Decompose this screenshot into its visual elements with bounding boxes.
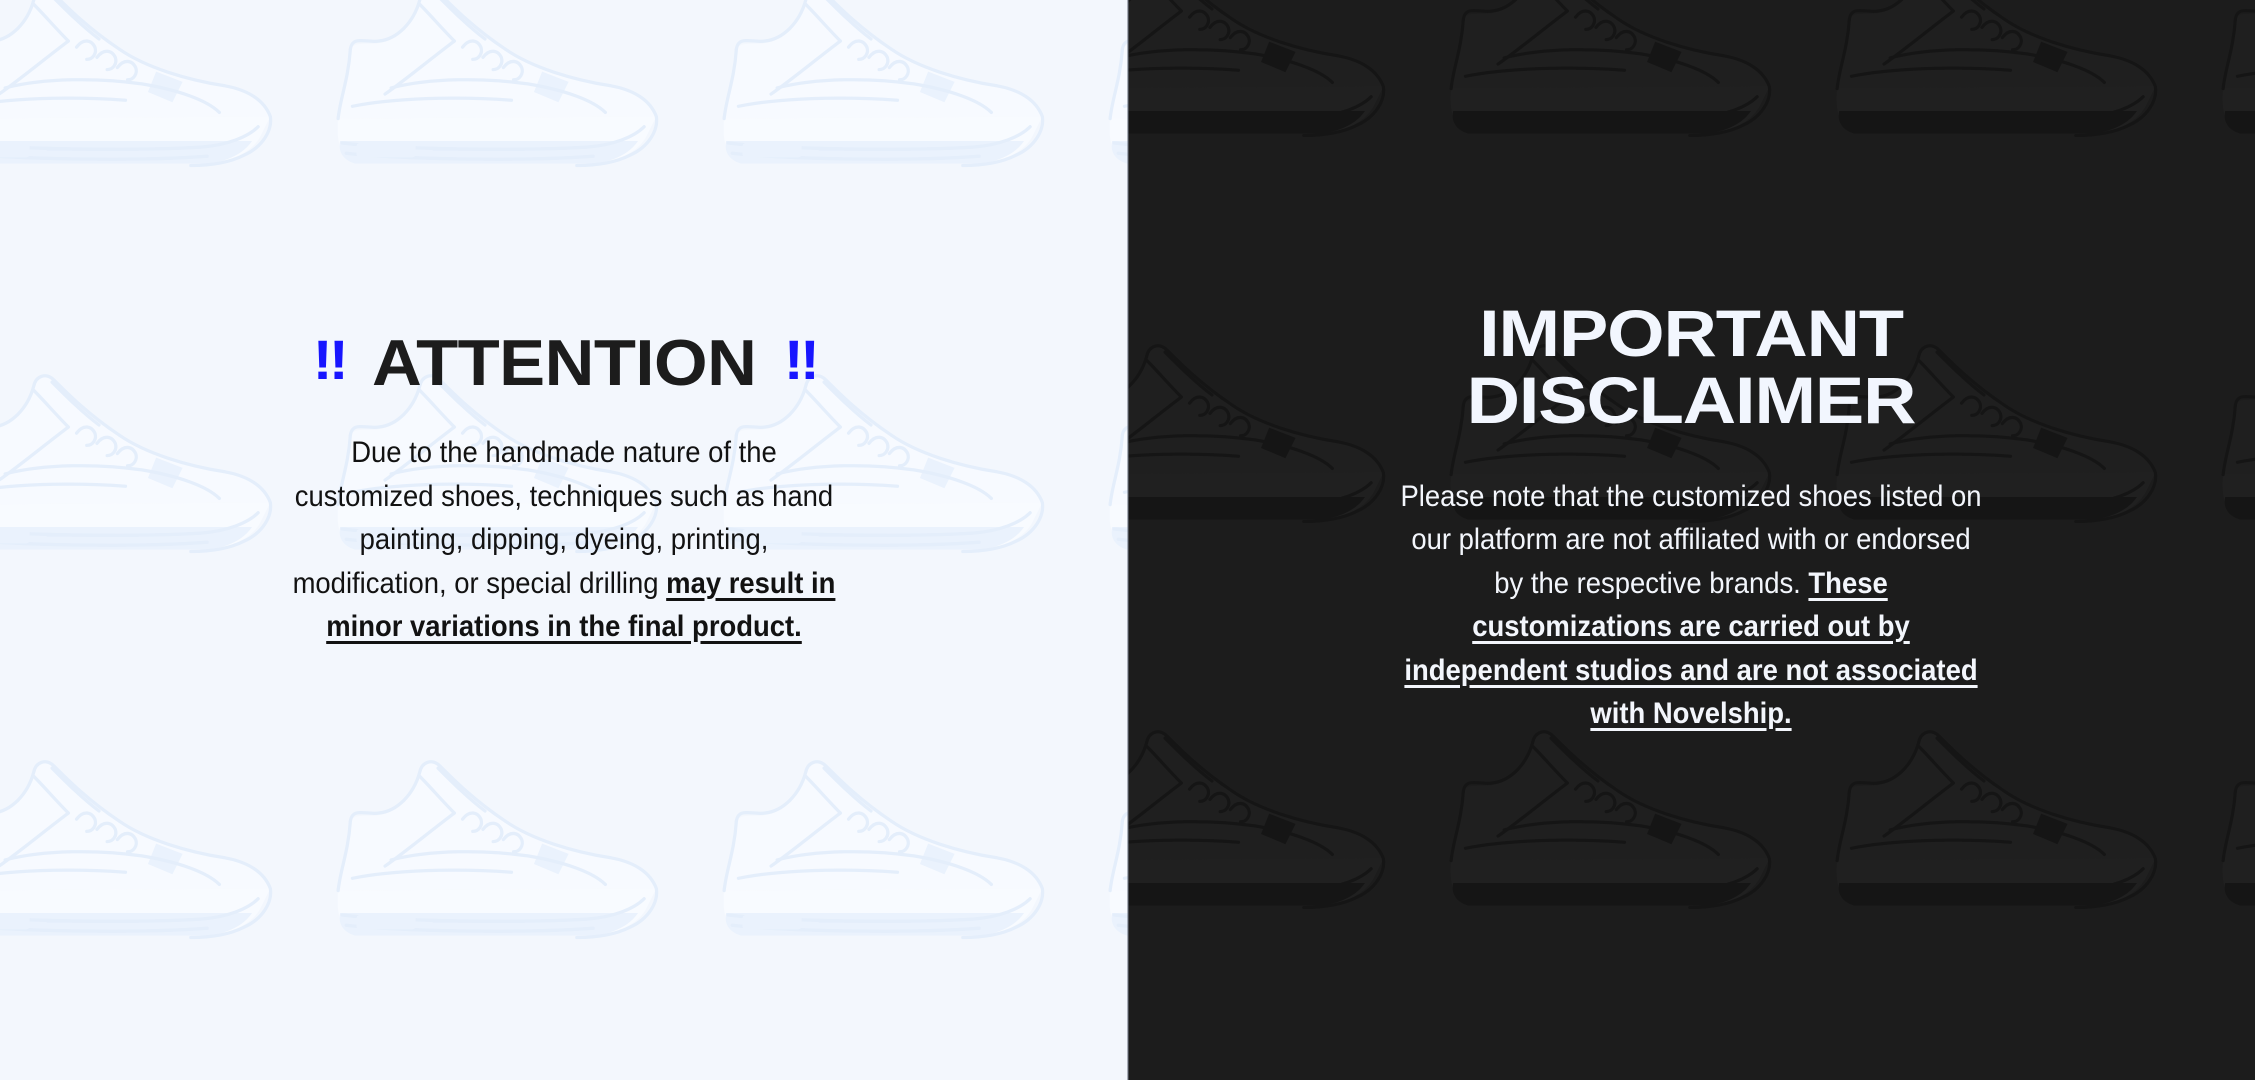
panel-divider (1127, 0, 1129, 1080)
double-exclamation-icon-left: ‼ (312, 332, 344, 388)
attention-panel: ‼ ATTENTION ‼ Due to the handmade nature… (0, 0, 1128, 1080)
disclaimer-body-plain: Please note that the customized shoes li… (1401, 480, 1982, 600)
disclaimer-heading: IMPORTANT DISCLAIMER (1333, 300, 2050, 435)
disclaimer-banner: ‼ ATTENTION ‼ Due to the handmade nature… (0, 0, 2255, 1080)
attention-heading: ‼ ATTENTION ‼ (312, 330, 815, 395)
attention-content: ‼ ATTENTION ‼ Due to the handmade nature… (0, 0, 1128, 1080)
double-exclamation-icon-right: ‼ (783, 332, 815, 388)
disclaimer-content: IMPORTANT DISCLAIMER Please note that th… (1128, 0, 2255, 1080)
disclaimer-body: Please note that the customized shoes li… (1394, 475, 1989, 736)
disclaimer-panel: IMPORTANT DISCLAIMER Please note that th… (1128, 0, 2255, 1080)
attention-body: Due to the handmade nature of the custom… (280, 431, 847, 649)
attention-heading-text: ATTENTION (372, 330, 756, 395)
